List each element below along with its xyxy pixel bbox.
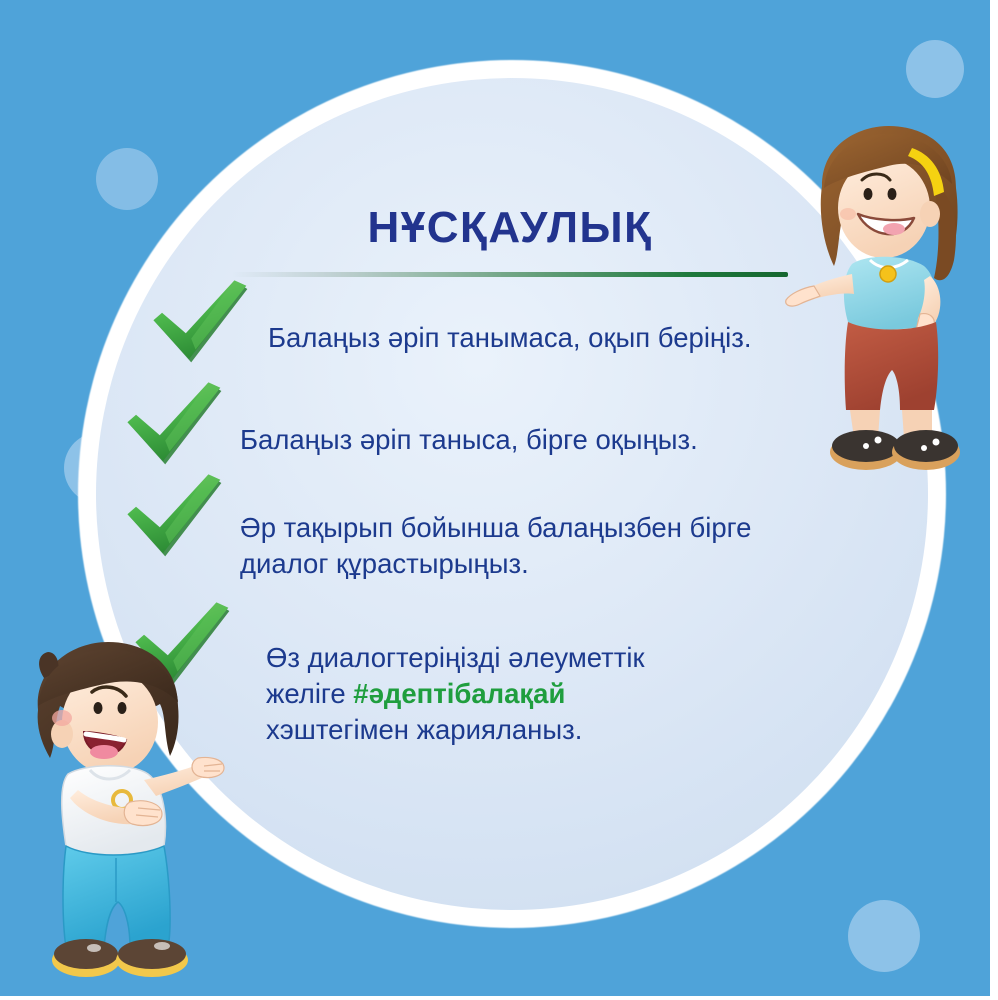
girl-character [784,126,994,486]
poster-canvas: НҰСҚАУЛЫҚ [0,0,998,1000]
check-icon [122,470,230,578]
hashtag-label: #әдептібалақай [353,678,565,709]
check-icon [148,276,256,384]
frame-edge-right [990,0,998,1000]
instruction-text-after: хэштегімен жарияланыз. [266,714,582,745]
instruction-text: Балаңыз әріп танымаса, оқып беріңіз. [268,320,868,356]
title-divider [232,272,788,277]
instruction-text-hashtag: Өз диалогтеріңізді әлеуметтік желіге #әд… [266,640,786,748]
instruction-text: Балаңыз әріп таныса, бірге оқыңыз. [240,422,840,458]
page-title: НҰСҚАУЛЫҚ [230,203,790,253]
frame-edge-bottom [0,996,998,1000]
instruction-text: Әр тақырып бойынша балаңызбен бірге диал… [240,510,860,582]
boy-character [22,640,252,990]
